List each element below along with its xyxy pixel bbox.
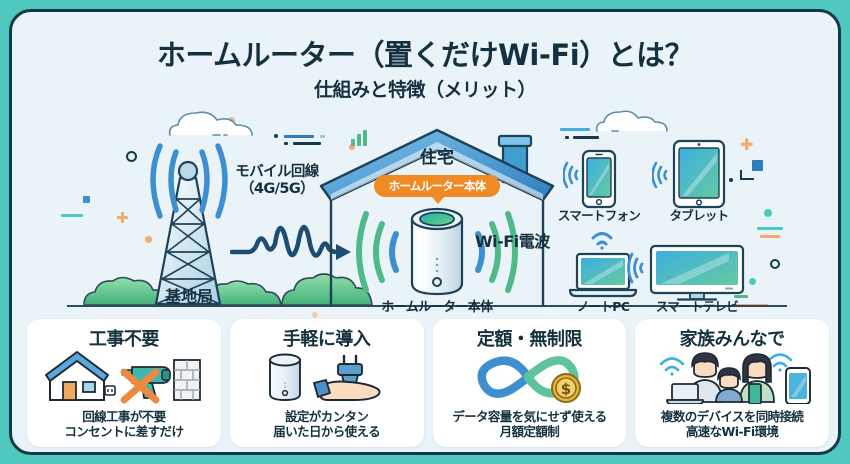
deco-corner-line	[740, 170, 754, 180]
card-desc-line1: 設定がカンタン	[230, 409, 424, 425]
card-title: 定額・無制限	[433, 325, 627, 351]
deco-ring-dark	[126, 151, 137, 162]
laptop-icon	[568, 251, 638, 299]
card-desc-line1: 複数のデバイスを同時接続	[635, 409, 829, 425]
smartphone-icon	[749, 384, 761, 404]
card-art	[635, 350, 829, 404]
brick-wall-icon	[174, 360, 200, 400]
card-description: 設定がカンタン 届いた日から使える	[230, 409, 424, 441]
router-badge-label: ホームルーター本体	[389, 178, 486, 194]
svg-text:$: $	[561, 380, 571, 398]
feature-cards: 工事不要	[27, 319, 829, 447]
wifi-arc-tv-icon	[627, 252, 647, 284]
home-router-device-icon	[408, 205, 466, 297]
card-desc-line1: データ容量を気にせず使える	[433, 409, 627, 425]
dollar-coin-icon: $	[552, 374, 580, 402]
deco-bar-group-2	[560, 128, 616, 142]
deco-bar-group-1	[274, 130, 334, 142]
deco-dot-small-1	[729, 178, 733, 182]
hand-icon	[314, 380, 380, 400]
deco-signal-bars-icon	[351, 130, 373, 146]
tower-label: 基地局	[143, 288, 235, 307]
card-desc-line2: 届いた日から使える	[230, 424, 424, 440]
wifi-signal-label: Wi-Fi電波	[475, 233, 550, 252]
smart-tv-icon	[649, 244, 745, 302]
device-label-laptop: ノートPC	[556, 300, 650, 315]
deco-bar-teal-2	[757, 227, 783, 230]
smartphone-icon	[581, 149, 617, 209]
card-description: データ容量を気にせず使える 月額定額制	[433, 409, 627, 441]
deco-bar-teal-3	[734, 295, 748, 298]
house-label: 住宅	[397, 148, 477, 168]
deco-bar-teal-1	[61, 214, 83, 217]
mobile-line-label: モバイル回線 （4G/5G）	[212, 164, 342, 198]
card-title: 手軽に導入	[230, 325, 424, 351]
wifi-arc-smartphone-icon	[563, 160, 581, 190]
cloud-icon-2	[592, 108, 672, 134]
infographic-frame: ✚ ✚ ✚ ホームルーター（置くだけWi-Fi）とは？ 仕組みと	[9, 9, 841, 455]
wifi-waves-right-icon	[468, 208, 522, 296]
deco-dot-pale-1	[312, 312, 318, 318]
wifi-arc-tablet-icon	[652, 160, 670, 190]
deco-dot-teal-2	[764, 209, 772, 217]
card-description: 複数のデバイスを同時接続 高速なWi-Fi環境	[635, 409, 829, 441]
card-art	[230, 350, 424, 404]
card-description: 回線工事が不要 コンセントに差すだけ	[27, 409, 221, 441]
page-title: ホームルーター（置くだけWi-Fi）とは？	[12, 32, 838, 74]
wifi-arc-laptop-icon	[586, 228, 618, 250]
card-desc-line2: 月額定額制	[433, 424, 627, 440]
card-desc-line2: コンセントに差すだけ	[27, 424, 221, 440]
infographic-outer-border: ✚ ✚ ✚ ホームルーター（置くだけWi-Fi）とは？ 仕組みと	[0, 0, 850, 464]
card-art: $	[433, 350, 627, 404]
deco-dot-orange-2	[349, 144, 355, 150]
router-badge-pointer	[431, 196, 445, 204]
feature-card-flat-rate[interactable]: 定額・無制限 $ データ容量を気にせず使える 月額定額制	[433, 319, 627, 447]
smartphone-large-icon	[786, 368, 810, 404]
page-subtitle: 仕組みと特徴（メリット）	[12, 75, 838, 102]
deco-dot-orange-1	[145, 236, 152, 243]
wifi-waves-left-icon	[352, 208, 406, 296]
deco-dot-teal-1	[228, 117, 235, 124]
device-label-tablet: タブレット	[652, 209, 746, 224]
router-caption: ホームルーター本体	[367, 300, 507, 315]
router-badge: ホームルーター本体	[374, 175, 500, 197]
feature-card-easy-setup[interactable]: 手軽に導入	[230, 319, 424, 447]
card-desc-line1: 回線工事が不要	[27, 409, 221, 425]
card-desc-line2: 高速なWi-Fi環境	[635, 424, 829, 440]
house-icon	[46, 352, 108, 400]
deco-plus-1: ✚	[116, 211, 129, 226]
deco-square-blue	[752, 160, 763, 171]
mobile-line-label-line2: （4G/5G）	[212, 181, 342, 198]
deco-bar-orange-1	[760, 235, 780, 238]
deco-dot-blue-1	[83, 196, 90, 203]
feature-card-whole-family[interactable]: 家族みんなで	[635, 319, 829, 447]
card-art	[27, 350, 221, 404]
card-title: 家族みんなで	[635, 325, 829, 351]
cloud-icon-1	[164, 108, 260, 138]
deco-plus-2: ✚	[740, 137, 753, 153]
device-label-smart-tv: スマートテレビ	[649, 300, 745, 315]
laptop-icon	[667, 384, 703, 404]
mobile-signal-wave-arrow	[230, 204, 352, 282]
device-label-smartphone: スマートフォン	[552, 209, 646, 224]
router-icon	[270, 355, 300, 401]
tablet-icon	[672, 139, 726, 209]
card-title: 工事不要	[27, 325, 221, 351]
mobile-line-label-line1: モバイル回線	[212, 164, 342, 181]
deco-dot-teal-3	[749, 278, 756, 285]
bush-icon-right	[280, 270, 375, 306]
deco-ring-dark-2	[770, 259, 780, 269]
feature-card-no-construction[interactable]: 工事不要	[27, 319, 221, 447]
